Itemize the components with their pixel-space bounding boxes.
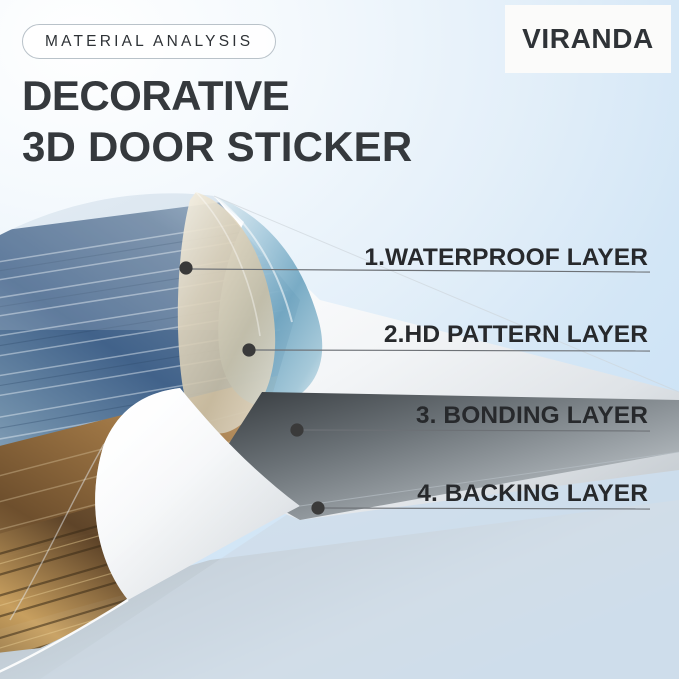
layer-label-4: 4. BACKING LAYER bbox=[417, 480, 648, 508]
badge-label: MATERIAL ANALYSIS bbox=[45, 33, 253, 51]
brand-logo: VIRANDA bbox=[505, 5, 671, 73]
layer-label-3: 3. BONDING LAYER bbox=[416, 402, 648, 430]
infographic-canvas: MATERIAL ANALYSIS DECORATIVE 3D DOOR STI… bbox=[0, 0, 679, 679]
callout-dot-2 bbox=[242, 343, 255, 356]
callout-dot-4 bbox=[311, 501, 324, 514]
title-line-1: DECORATIVE bbox=[22, 70, 412, 121]
title-line-2: 3D DOOR STICKER bbox=[22, 121, 412, 172]
callout-dot-3 bbox=[290, 423, 303, 436]
layer-label-2: 2.HD PATTERN LAYER bbox=[384, 321, 648, 349]
callout-dot-1 bbox=[179, 261, 192, 274]
brand-logo-text: VIRANDA bbox=[522, 23, 654, 55]
page-title: DECORATIVE 3D DOOR STICKER bbox=[22, 70, 412, 172]
layer-label-1: 1.WATERPROOF LAYER bbox=[364, 244, 648, 272]
material-analysis-badge: MATERIAL ANALYSIS bbox=[22, 24, 276, 59]
